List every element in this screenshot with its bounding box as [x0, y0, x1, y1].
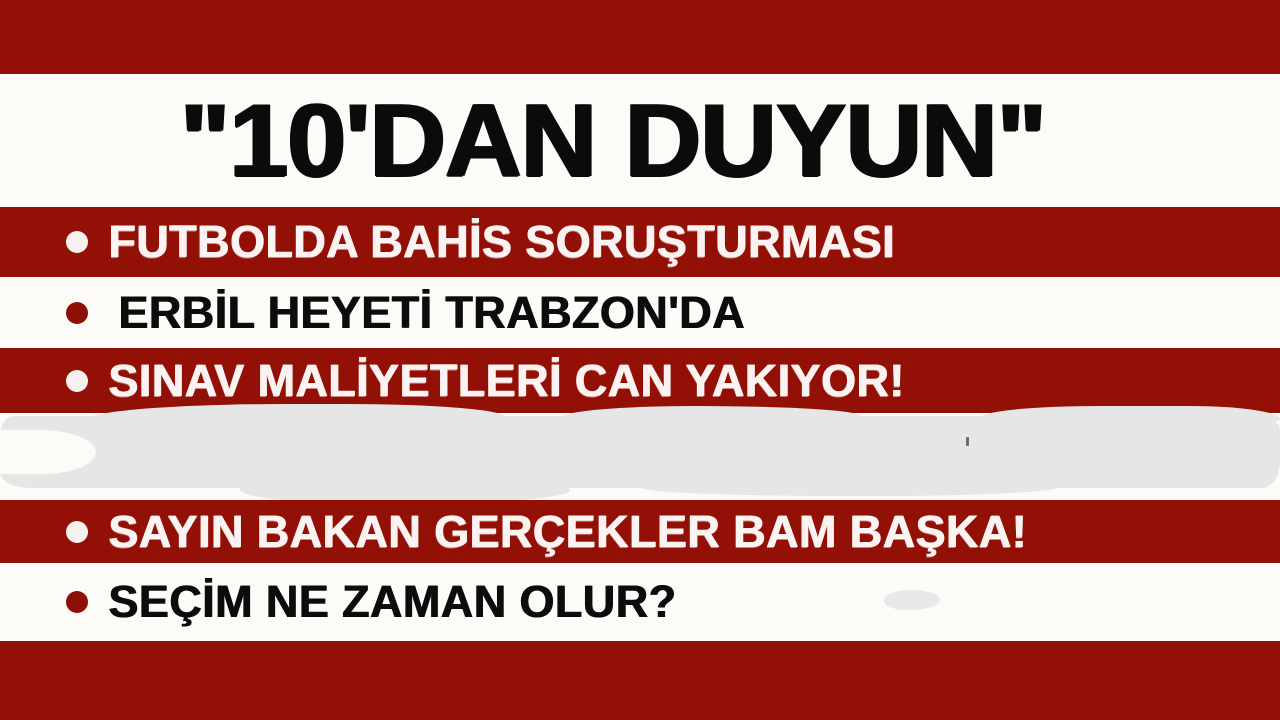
headline-text-2: ERBİL HEYETİ TRABZON'DA — [108, 290, 745, 336]
headline-row-2: ERBİL HEYETİ TRABZON'DA — [0, 277, 1280, 348]
bullet-icon — [66, 521, 88, 543]
bullet-icon — [66, 591, 88, 613]
headline-row-4: SAYIN BAKAN GERÇEKLER BAM BAŞKA! — [0, 500, 1280, 563]
headline-text-4: SAYIN BAKAN GERÇEKLER BAM BAŞKA! — [108, 509, 1027, 555]
headline-row-5: SEÇİM NE ZAMAN OLUR? — [0, 563, 1280, 641]
headline-row-3: SINAV MALİYETLERİ CAN YAKIYOR! — [0, 348, 1280, 413]
top-red-band — [0, 0, 1280, 74]
bullet-icon — [66, 231, 88, 253]
page-title: "10'DAN DUYUN" — [0, 89, 1046, 193]
headline-text-3: SINAV MALİYETLERİ CAN YAKIYOR! — [108, 358, 904, 404]
bullet-icon — [66, 370, 88, 392]
headline-text-5: SEÇİM NE ZAMAN OLUR? — [108, 579, 676, 625]
headline-text-1: FUTBOLDA BAHİS SORUŞTURMASI — [108, 219, 895, 265]
news-headline-graphic: "10'DAN DUYUN" FUTBOLDA BAHİS SORUŞTURMA… — [0, 0, 1280, 720]
redacted-band — [0, 413, 1280, 500]
bullet-icon — [66, 302, 88, 324]
headline-row-1: FUTBOLDA BAHİS SORUŞTURMASI — [0, 207, 1280, 277]
title-band: "10'DAN DUYUN" — [0, 74, 1280, 207]
bottom-red-band — [0, 641, 1280, 720]
